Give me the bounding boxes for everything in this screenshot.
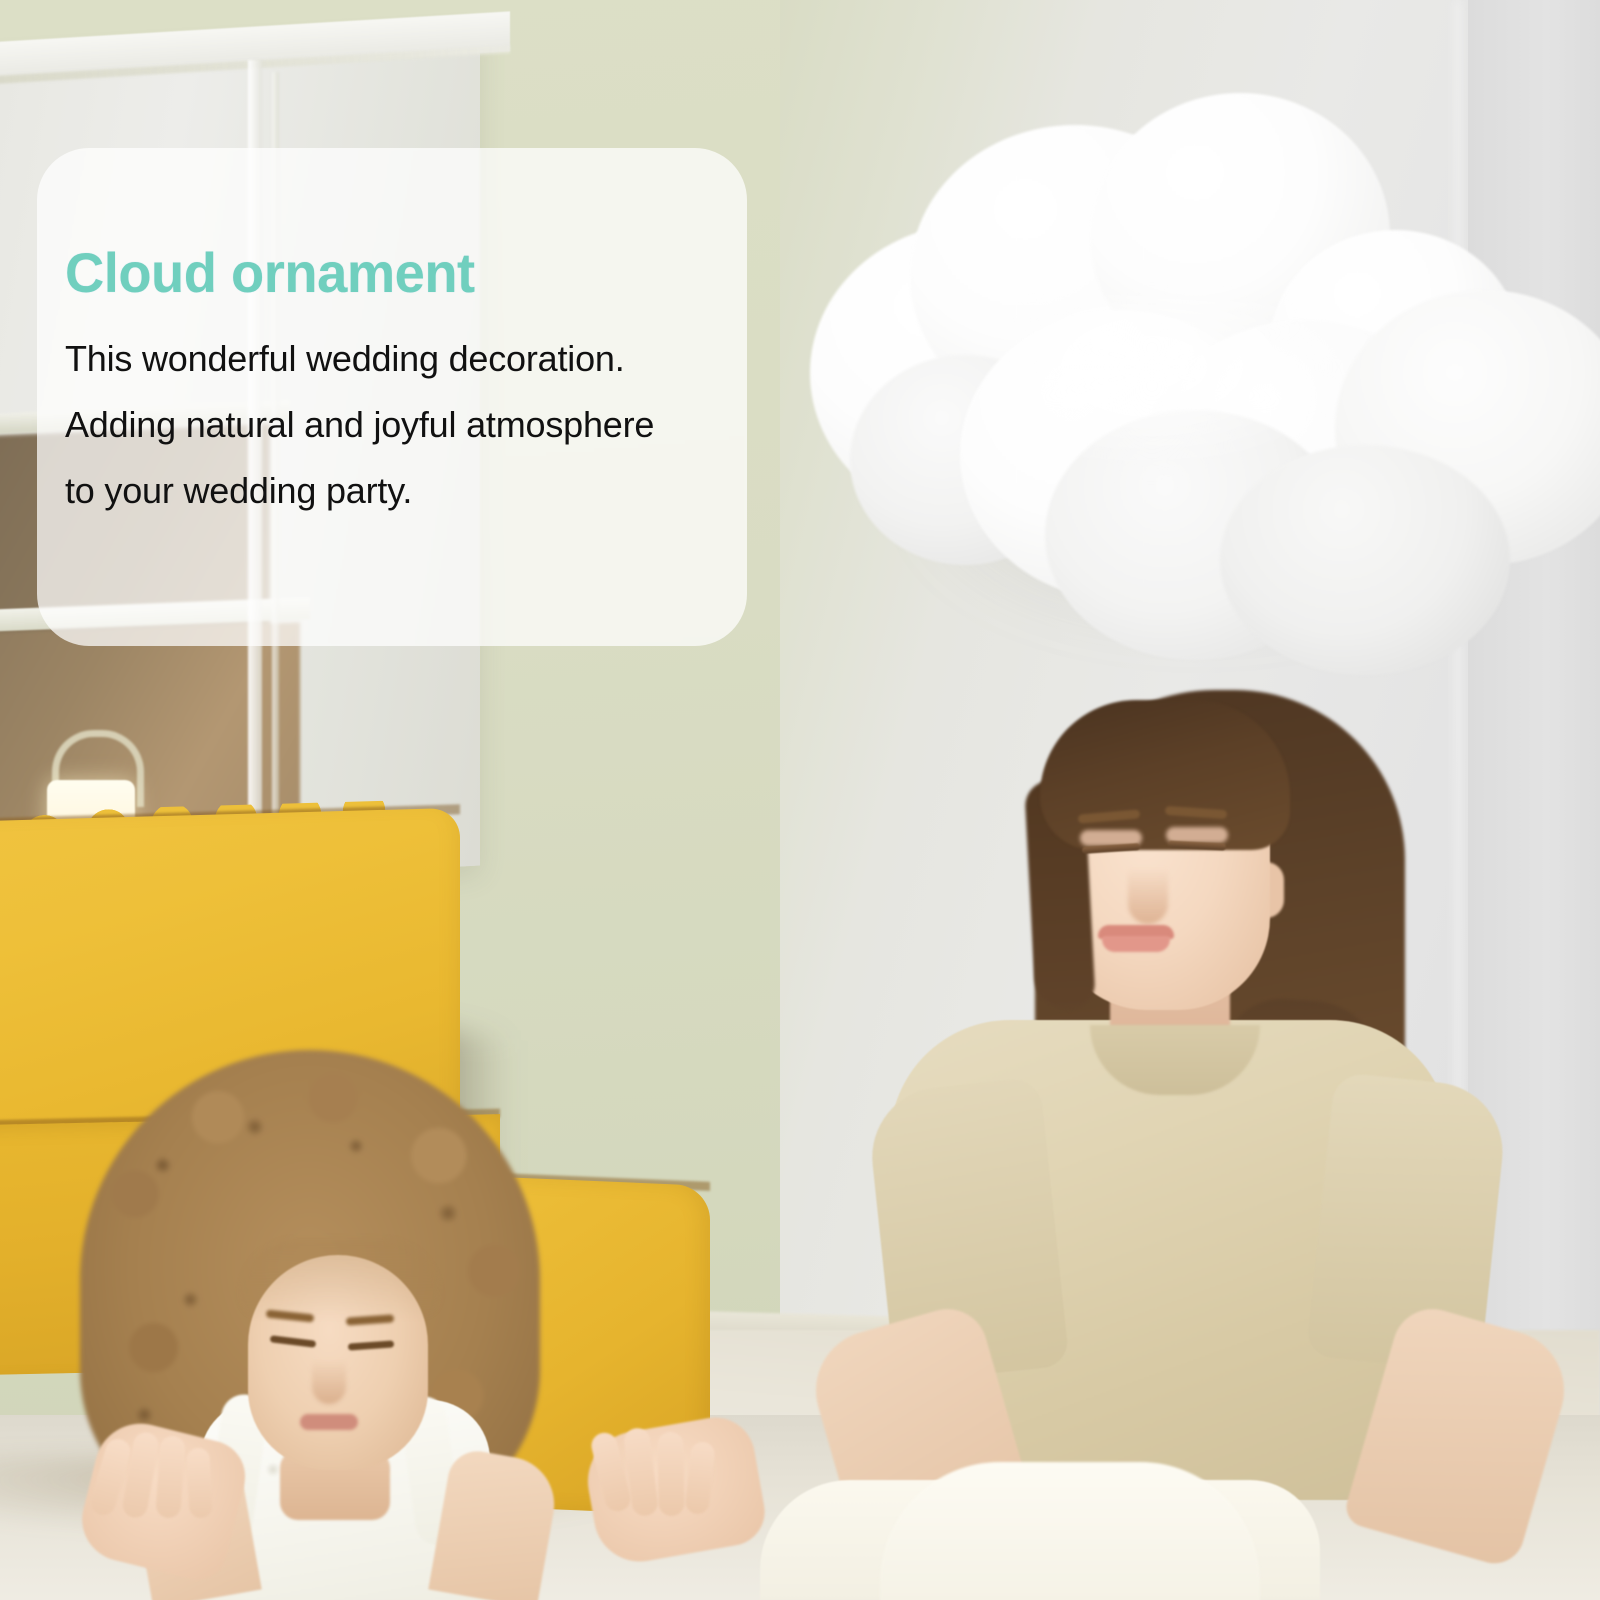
promo-body-line-2: Adding natural and joyful atmosphere [65,405,713,445]
page-title: Cloud ornament [65,244,694,303]
girl-mouth [300,1414,358,1430]
promo-body-line-3: to your wedding party. [65,471,713,511]
promo-text-card: Cloud ornament This wonderful wedding de… [37,148,747,646]
cloud-highlight [1020,295,1350,475]
woman-finger [657,1432,684,1516]
promo-text-card-inner: Cloud ornament This wonderful wedding de… [37,148,747,646]
cloud-ornament [790,55,1580,655]
woman-hair-front [1040,700,1290,850]
woman-pants-fold [880,1462,1260,1600]
product-promo-image: Cloud ornament This wonderful wedding de… [0,0,1600,1600]
cloud-puff [1220,445,1510,675]
girl-hair-fringe [240,1240,440,1320]
woman-lower-lip [1102,936,1170,952]
promo-body-line-1: This wonderful wedding decoration. [65,339,713,379]
girl-finger [186,1447,213,1518]
woman-nose [1128,868,1168,924]
girl-nose [312,1360,346,1404]
